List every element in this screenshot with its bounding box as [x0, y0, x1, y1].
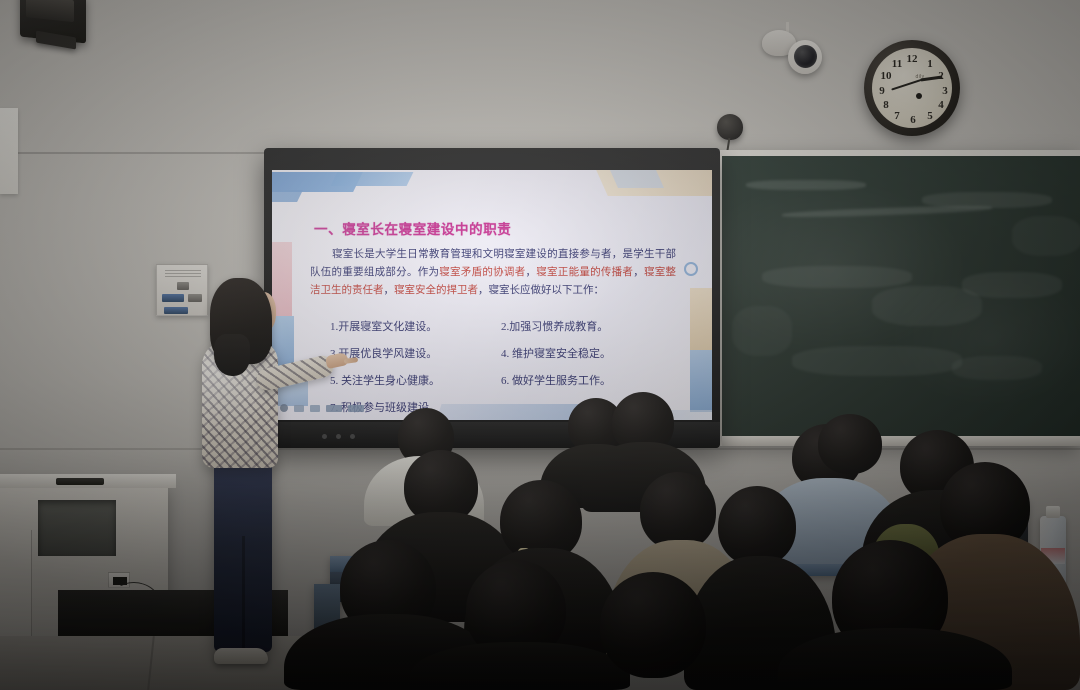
- list-row: 3.开展优良学风建设。 4. 维护寝室安全稳定。: [330, 345, 660, 361]
- student-head: [600, 572, 706, 678]
- clock-minute-hand: [891, 79, 921, 90]
- slide-decoration-top-left-2: [331, 172, 414, 186]
- slide-decoration-right-blue: [690, 350, 712, 412]
- slide-decoration-top-right-2: [610, 170, 664, 188]
- list-item-5: 5. 关注学生身心健康。: [330, 372, 489, 388]
- paragraph-highlight-2: 寝室正能量的传播者: [536, 267, 633, 278]
- chin-indicator-2: [336, 434, 341, 439]
- clock-numeral-8: 8: [879, 98, 893, 112]
- podium-object: [56, 478, 104, 485]
- clock-numeral-5: 5: [923, 109, 937, 123]
- presentation-slide: 一、寝室长在寝室建设中的职责 寝室长是大学生日常教育管理和文明寝室建设的直接参与…: [272, 170, 712, 420]
- paragraph-seg-2: ，: [525, 267, 536, 278]
- control-button-2[interactable]: [162, 294, 184, 302]
- presenter-shoes: [214, 648, 268, 664]
- paragraph-highlight-1: 寝室矛盾的协调者: [439, 267, 525, 278]
- list-item-4: 4. 维护寝室安全稳定。: [489, 345, 660, 361]
- wide-bar-icon-2[interactable]: [348, 405, 364, 412]
- paragraph-seg-3: ，: [633, 267, 644, 278]
- list-row: 1.开展寝室文化建设。 2.加强习惯养成教育。: [330, 318, 660, 334]
- chalk-tray: [722, 436, 1080, 446]
- list-item-2: 2.加强习惯养成教育。: [489, 318, 660, 334]
- clock-center-pin: [916, 93, 922, 99]
- clock-numeral-3: 3: [938, 84, 952, 98]
- clock-numeral-11: 11: [890, 57, 904, 71]
- control-button-4[interactable]: [164, 307, 188, 314]
- control-panel-label: [165, 270, 201, 278]
- bottle-cap-1: [1046, 506, 1060, 518]
- blackboard: [716, 150, 1080, 446]
- paragraph-seg-4: ，: [384, 285, 395, 296]
- display-screen[interactable]: 一、寝室长在寝室建设中的职责 寝室长是大学生日常教育管理和文明寝室建设的直接参与…: [272, 170, 712, 420]
- student-head: [718, 486, 796, 566]
- blackboard-surface: [722, 156, 1080, 436]
- paragraph-highlight-4: 寝室安全的捍卫者: [394, 285, 478, 296]
- clock-numeral-9: 9: [875, 84, 889, 98]
- presenter-hair-strand: [214, 334, 250, 376]
- control-button-1[interactable]: [177, 282, 189, 290]
- paragraph-seg-5: ，寝室长应做好以下工作：: [478, 285, 604, 296]
- slide-title: 一、寝室长在寝室建设中的职责: [314, 218, 511, 238]
- student-head: [640, 472, 716, 550]
- chin-indicator-3: [350, 434, 355, 439]
- slide-decoration-right-tan: [690, 288, 712, 350]
- clock-numeral-6: 6: [906, 113, 920, 127]
- list-row: 5. 关注学生身心健康。 6. 做好学生服务工作。: [330, 372, 660, 388]
- wall-clock: dily 12 1 2 3 4 5 6 7 8 9 10 11: [864, 40, 960, 136]
- ir-sensor-icon: [717, 114, 743, 140]
- presenter-leg-split: [242, 536, 245, 648]
- clock-numeral-12: 12: [905, 52, 919, 66]
- student-head: [818, 414, 882, 474]
- list-item-6: 6. 做好学生服务工作。: [489, 372, 660, 388]
- slide-paragraph: 寝室长是大学生日常教育管理和文明寝室建设的直接参与者，是学生干部队伍的重要组成部…: [310, 246, 676, 300]
- podium-cavity: [38, 500, 116, 556]
- slide-decoration-ring-icon: [684, 262, 698, 276]
- camera-lens-icon: [794, 45, 817, 68]
- clock-face: dily 12 1 2 3 4 5 6 7 8 9 10 11: [872, 48, 952, 128]
- clock-numeral-10: 10: [879, 69, 893, 83]
- wall-notice: [0, 108, 18, 194]
- list-item-1: 1.开展寝室文化建设。: [330, 318, 489, 334]
- classroom-photo: dily 12 1 2 3 4 5 6 7 8 9 10 11: [0, 0, 1080, 690]
- slide-decoration-top-left-3: [272, 190, 303, 202]
